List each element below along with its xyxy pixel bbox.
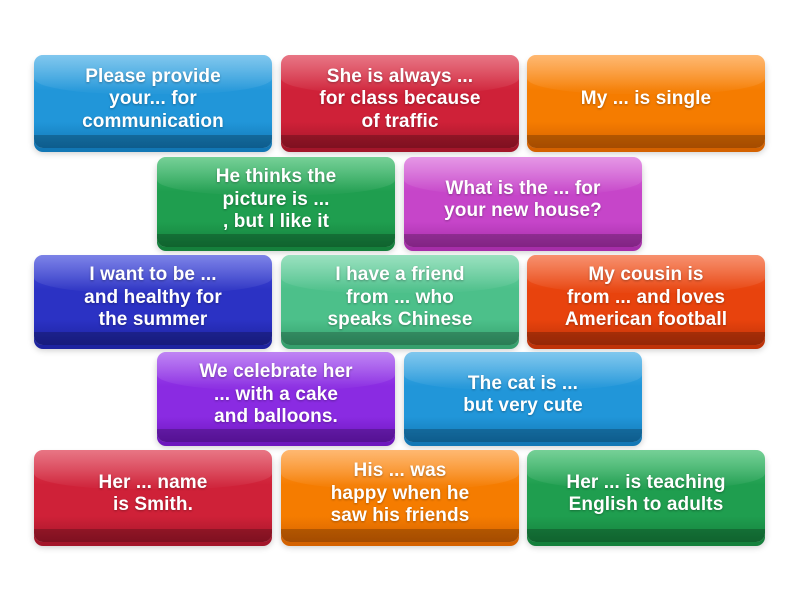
tile-8[interactable]: My cousin is from ... and loves American…	[527, 255, 765, 345]
tile-board: Please provide your... for communication…	[0, 0, 800, 600]
tile-label: Her ... is teaching English to adults	[566, 472, 725, 517]
tile-3[interactable]: My ... is single	[527, 55, 765, 148]
tile-label: Please provide your... for communication	[82, 66, 224, 133]
tile-label: Her ... name is Smith.	[99, 472, 208, 517]
tile-label: She is always ... for class because of t…	[319, 66, 480, 133]
tile-11[interactable]: Her ... name is Smith.	[34, 450, 272, 542]
tile-label: I have a friend from ... who speaks Chin…	[327, 264, 472, 331]
tile-label: I want to be ... and healthy for the sum…	[84, 264, 222, 331]
tile-1[interactable]: Please provide your... for communication	[34, 55, 272, 148]
tile-4[interactable]: He thinks the picture is ... , but I lik…	[157, 157, 395, 247]
tile-label: We celebrate her ... with a cake and bal…	[199, 361, 352, 428]
tile-5[interactable]: What is the ... for your new house?	[404, 157, 642, 247]
tile-10[interactable]: The cat is ... but very cute	[404, 352, 642, 442]
tile-label: The cat is ... but very cute	[463, 373, 583, 418]
tile-6[interactable]: I want to be ... and healthy for the sum…	[34, 255, 272, 345]
tile-2[interactable]: She is always ... for class because of t…	[281, 55, 519, 148]
tile-label: His ... was happy when he saw his friend…	[331, 460, 470, 527]
tile-label: He thinks the picture is ... , but I lik…	[216, 166, 337, 233]
tile-label: My ... is single	[581, 88, 711, 110]
tile-label: My cousin is from ... and loves American…	[565, 264, 727, 331]
tile-12[interactable]: His ... was happy when he saw his friend…	[281, 450, 519, 542]
tile-13[interactable]: Her ... is teaching English to adults	[527, 450, 765, 542]
tile-9[interactable]: We celebrate her ... with a cake and bal…	[157, 352, 395, 442]
tile-label: What is the ... for your new house?	[444, 178, 602, 223]
tile-7[interactable]: I have a friend from ... who speaks Chin…	[281, 255, 519, 345]
